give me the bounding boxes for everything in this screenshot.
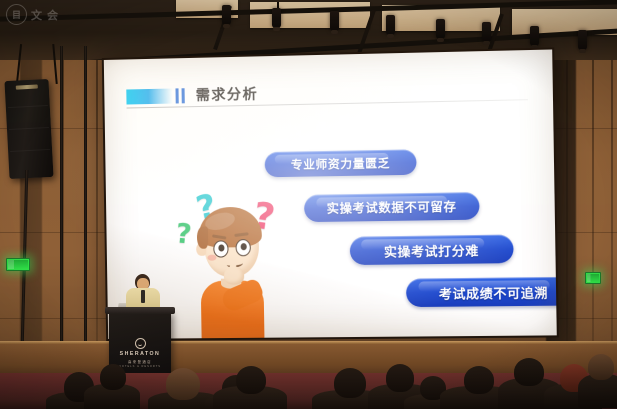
curtain-track-pole: [60, 46, 63, 346]
conference-photo: 需求分析 ? ? ?: [0, 0, 617, 409]
channel-watermark: 目 文 会: [6, 4, 59, 25]
exit-sign-glyph: [587, 274, 599, 282]
thinking-character-illustration: ? ? ?: [176, 187, 286, 341]
audience-head: [386, 364, 414, 392]
projection-screen: 需求分析 ? ? ?: [102, 47, 559, 341]
wall-panel-line: [592, 44, 594, 361]
stage-light: [330, 11, 339, 31]
slide-title-row: 需求分析: [126, 84, 258, 107]
watermark-badge-icon: 目: [6, 4, 27, 25]
podium-branding: SHERATON 喜来登酒店 HOTELS & RESORTS: [109, 338, 171, 368]
stage-edge: [0, 341, 617, 344]
audience-head: [166, 368, 200, 400]
stage-light: [222, 5, 231, 25]
audience-head: [236, 366, 266, 394]
wall-panel-line: [611, 44, 613, 361]
sheraton-logo-icon: [135, 338, 146, 349]
curtain-track-pole: [84, 46, 87, 346]
exit-sign: [6, 258, 30, 271]
character-hair-side: [197, 227, 208, 249]
speaker-brand-badge: [16, 84, 38, 89]
stage-light: [530, 26, 539, 46]
presentation-slide: 需求分析 ? ? ?: [102, 47, 559, 341]
pain-point-pill: 实操考试数据不可留存: [304, 192, 480, 222]
title-accent-bar-icon: [175, 88, 178, 103]
pain-point-pill: 考试成绩不可追溯: [406, 277, 559, 307]
podium-top: [105, 307, 175, 314]
stage-light: [272, 8, 281, 28]
audience-head: [100, 364, 126, 390]
stage-light: [482, 22, 491, 42]
podium-brand-sub: 喜来登酒店: [109, 359, 171, 364]
audience-head: [514, 358, 544, 386]
title-accent-bar-icon: [182, 88, 185, 103]
exit-sign: [585, 272, 601, 284]
pain-point-pill: 实操考试打分难: [350, 234, 514, 265]
stage-light: [386, 15, 395, 35]
pain-point-pill: 专业师资力量匮乏: [265, 149, 417, 177]
audience-head: [588, 354, 614, 380]
stage-light: [578, 30, 587, 50]
audience-head: [334, 368, 366, 398]
audience-head: [464, 366, 494, 394]
title-accent-gradient-icon: [126, 88, 172, 104]
stage-light: [436, 19, 445, 39]
wall-panel-line: [96, 44, 98, 361]
slide-title: 需求分析: [196, 84, 259, 105]
presenter-tie: [141, 290, 145, 303]
line-array-speaker: [4, 79, 53, 179]
podium-brand-name: SHERATON: [109, 351, 171, 357]
character-eye: [235, 239, 250, 256]
question-mark-icon: ?: [175, 220, 193, 248]
watermark-text: 文 会: [31, 7, 59, 23]
exit-sign-glyph: [8, 260, 28, 269]
